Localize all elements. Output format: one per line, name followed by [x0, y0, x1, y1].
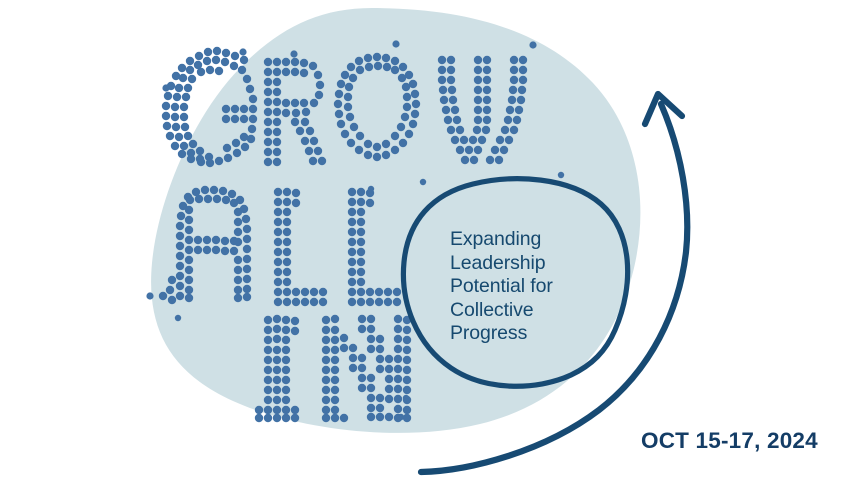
poster-artwork: [0, 0, 864, 483]
event-date: OCT 15-17, 2024: [641, 428, 818, 454]
tagline-line-1: Expanding: [450, 228, 625, 252]
tagline-line-3: Potential for: [450, 275, 625, 299]
tagline-text: Expanding Leadership Potential for Colle…: [450, 228, 625, 346]
tagline-line-4: Collective: [450, 299, 625, 323]
tagline-line-5: Progress: [450, 322, 625, 346]
tagline-line-2: Leadership: [450, 252, 625, 276]
poster-canvas: Expanding Leadership Potential for Colle…: [0, 0, 864, 483]
